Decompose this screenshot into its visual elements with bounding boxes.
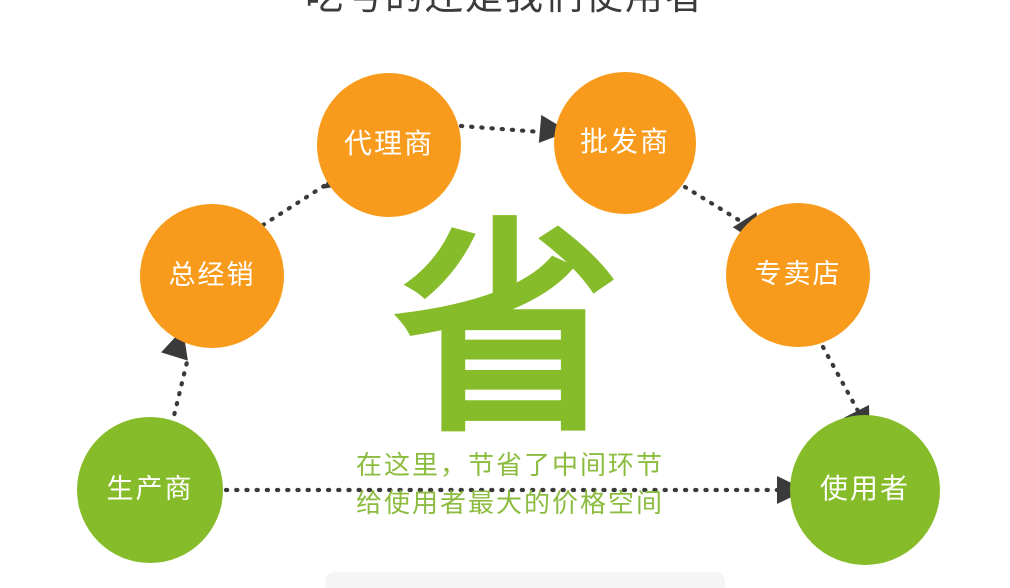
- node-user[interactable]: 使用者: [790, 415, 940, 565]
- caption-line-2: 给使用者最大的价格空间: [290, 485, 730, 523]
- node-store[interactable]: 专卖店: [726, 203, 870, 347]
- arrow-line-agent-to-wholesaler: [461, 126, 541, 132]
- arrow-line-distributor-to-agent: [263, 184, 327, 225]
- bottom-panel: [325, 572, 725, 588]
- node-producer[interactable]: 生产商: [77, 417, 223, 563]
- caption-line-1: 在这里，节省了中间环节: [290, 447, 730, 485]
- node-agent[interactable]: 代理商: [317, 73, 461, 217]
- center-glyph-save: 省: [392, 216, 622, 446]
- node-distributor[interactable]: 总经销: [140, 204, 284, 348]
- caption-block: 在这里，节省了中间环节 给使用者最大的价格空间: [290, 447, 730, 523]
- node-label-agent: 代理商: [344, 130, 434, 158]
- node-label-wholesaler: 批发商: [580, 128, 670, 156]
- node-label-store: 专卖店: [755, 261, 842, 288]
- infographic-canvas: 吃亏的还是我们使用者 生产商: [0, 0, 1010, 588]
- arrow-line-store-to-user: [823, 347, 858, 411]
- arrow-line-producer-to-distributor: [172, 362, 187, 424]
- node-wholesaler[interactable]: 批发商: [554, 72, 696, 214]
- node-label-distributor: 总经销: [169, 262, 256, 289]
- node-label-producer: 生产商: [107, 476, 194, 503]
- arrow-line-wholesaler-to-store: [685, 187, 742, 222]
- node-label-user: 使用者: [820, 475, 910, 503]
